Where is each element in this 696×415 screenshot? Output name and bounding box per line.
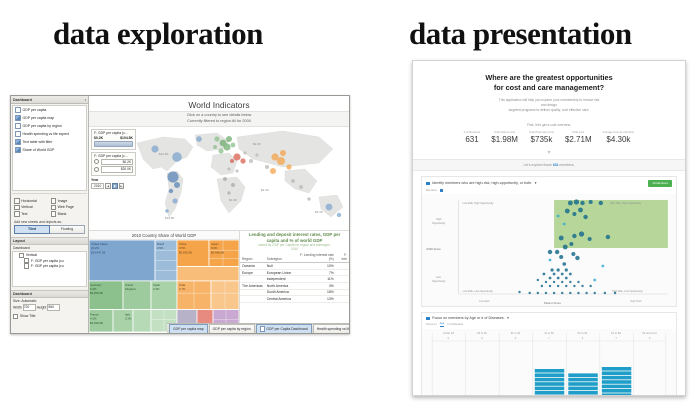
- filter-min-value: $0.2K: [94, 136, 103, 140]
- left-dock: Dashboard › GDP per capita GDP per capit…: [11, 96, 89, 333]
- cell-lending: 7%: [293, 269, 336, 276]
- cell-region: [240, 276, 265, 283]
- column-label: 18 to 30: [477, 331, 487, 335]
- cell-region: Europe: [240, 269, 265, 276]
- tab-health-spending[interactable]: Health spending vs life expecta...: [313, 324, 349, 333]
- cell-region: [240, 289, 265, 296]
- kpi-label: Average Cost per Member: [603, 131, 635, 134]
- dashboard-lower-row: 2010 Country Share of World GDP: [89, 231, 349, 332]
- dashboard-icon: [15, 147, 21, 153]
- svg-text:$3,258.0B: $3,258.0B: [90, 291, 103, 295]
- slide-heading-right: data presentation: [409, 16, 632, 52]
- kpi-total-cost: Total Cost $2.71M: [565, 131, 592, 144]
- bars-control-prefix: Focus on: [426, 323, 437, 326]
- age-band-bar-chart[interactable]: Under 180 18 to 300 31 to 400 41 to 507 …: [422, 329, 676, 396]
- cell-lending: 10%: [293, 263, 336, 270]
- filter-title: F: GDP per capita (c...: [94, 131, 133, 135]
- interest-table-panel[interactable]: Lending and deposit interest rates, GDP …: [240, 231, 349, 332]
- treemap-panel[interactable]: 2010 Country Share of World GDP: [89, 231, 240, 332]
- x-axis-high-label: High Risk: [630, 299, 642, 303]
- dashboard-subtitle-line2: Currently filtered to region All for 200…: [89, 119, 349, 125]
- svg-text:ASRI Score: ASRI Score: [426, 247, 441, 251]
- kpi-value: $2.71M: [565, 135, 592, 144]
- svg-text:Kingdom: Kingdom: [125, 287, 137, 291]
- chevron-down-icon[interactable]: ▾: [535, 181, 537, 185]
- interest-table[interactable]: Region Subregion F: Lending interest rat…: [240, 252, 349, 303]
- scatter-card-heading: Identify members who are high-risk, high…: [432, 181, 532, 185]
- explore-prefix: Let's explore those: [524, 163, 553, 167]
- object-vertical[interactable]: Vertical: [14, 205, 49, 211]
- svg-text:2.7%: 2.7%: [179, 287, 186, 291]
- kpi-row: # of Members 631 Total Claims Cost $1.98…: [413, 127, 685, 144]
- svg-text:$3.3K: $3.3K: [315, 210, 323, 214]
- world-map[interactable]: $12.6K $19.8K $1.0K $1.3K $2.3K $3.3K: [133, 127, 349, 230]
- svg-text:$2,549.0B: $2,549.0B: [90, 321, 103, 325]
- size-label: Size:: [13, 299, 21, 303]
- cell-interest: [336, 296, 349, 303]
- object-web-page[interactable]: Web Page: [51, 205, 86, 211]
- dashboard-panel-header: Dashboard ›: [11, 96, 88, 104]
- treemap-title: 2010 Country Share of World GDP: [89, 231, 239, 240]
- text-icon: [14, 211, 20, 217]
- table-row[interactable]: Central America13%: [240, 296, 349, 303]
- column-label: 41 to 50: [544, 331, 554, 335]
- layout-root-label: Dashboard: [13, 246, 86, 250]
- table-row[interactable]: The AmericasNorth America3%: [240, 283, 349, 290]
- kpi-label: Total Pharmacy Cost: [529, 131, 554, 134]
- cell-interest: [336, 269, 349, 276]
- column-header-lending-rate[interactable]: F: Lending interest rate (%): [293, 252, 336, 263]
- year-filter[interactable]: Year 2010 ◂ ▮ ▸: [91, 178, 136, 189]
- presentation-description: This application will help you explore y…: [413, 93, 685, 113]
- quadrant-label-low-risk-high-opp: Low Risk, High Opportunity: [463, 202, 494, 205]
- kpi-value: $4.30k: [603, 135, 635, 144]
- bars-card-heading: Focus on members by Age or # of Diseases…: [432, 316, 505, 320]
- cell-interest: [336, 289, 349, 296]
- year-label: Year: [91, 178, 136, 182]
- presentation-title: Where are the greatest opportunities for…: [413, 61, 685, 93]
- filter-card-spinner[interactable]: F: GDP per capita (c... $0.2K $20.0K: [91, 152, 136, 176]
- width-label: Width: [13, 305, 22, 309]
- table-header-row: Region Subregion F: Lending interest rat…: [240, 252, 349, 263]
- sheet-label: Text table with filter: [23, 140, 53, 144]
- svg-text:$14,447.1B: $14,447.1B: [91, 250, 105, 254]
- object-blank[interactable]: Blank: [51, 211, 86, 217]
- add-as-tiled-button[interactable]: Tiled: [14, 225, 50, 234]
- dashboard-canvas: World Indicators Click on a country to s…: [89, 96, 349, 333]
- svg-text:$1.0K: $1.0K: [253, 142, 261, 146]
- add-as-toggle[interactable]: Tiled Floating: [14, 225, 85, 234]
- explore-suffix: members.: [558, 163, 574, 167]
- table-row[interactable]: OceaniaNull10%: [240, 263, 349, 270]
- kpi-value: $1.98M: [491, 135, 518, 144]
- web-page-icon: [51, 205, 57, 211]
- svg-text:2.3%: 2.3%: [153, 287, 160, 291]
- cell-lending: 11%: [293, 276, 336, 283]
- cell-lending: 13%: [293, 296, 336, 303]
- cell-lending: 3%: [293, 283, 336, 290]
- height-label: Height: [37, 305, 47, 309]
- tab-gdp-per-capita-by-region[interactable]: GDP per capita by region: [209, 324, 255, 333]
- kpi-label: # of Members: [464, 131, 480, 134]
- cell-subregion: European Union: [265, 269, 294, 276]
- svg-text:$1.3K: $1.3K: [229, 198, 237, 202]
- layout-panel-header: Layout: [11, 237, 88, 245]
- size-row[interactable]: Size: Automatic: [13, 299, 86, 303]
- checkbox-icon[interactable]: [13, 314, 18, 319]
- year-value[interactable]: 2010: [91, 183, 104, 189]
- tableau-authoring-window: Dashboard › GDP per capita GDP per capit…: [10, 95, 350, 334]
- vertical-layout-icon: [14, 205, 20, 211]
- presentation-title-line1: Where are the greatest opportunities: [431, 73, 667, 83]
- worksheet-icon: [15, 131, 21, 137]
- slide-canvas: data exploration data presentation Dashb…: [0, 0, 696, 415]
- bars-card: Focus on members by Age or # of Diseases…: [421, 312, 677, 396]
- column-label: 61 to 80: [611, 331, 621, 335]
- size-value[interactable]: Automatic: [21, 299, 36, 303]
- quadrant-label-low-risk-low-opp: Low Risk, Low Opportunity: [463, 290, 494, 293]
- show-title-row[interactable]: Show Title: [11, 312, 88, 321]
- object-text[interactable]: Text: [14, 211, 49, 217]
- show-title-label: Show Title: [20, 314, 36, 318]
- column-label: Under 18: [443, 331, 454, 335]
- list-item[interactable]: GDP per capita by region: [13, 122, 86, 130]
- kpi-label: Total Cost: [565, 131, 592, 134]
- dashboard-panel-title: Dashboard: [13, 98, 32, 102]
- checkbox-icon[interactable]: [24, 263, 29, 268]
- tab-gdp-per-capita-map[interactable]: GDP per capita map: [169, 324, 208, 333]
- dashboard-title: World Indicators: [89, 96, 349, 111]
- presentation-dashboard: Where are the greatest opportunities for…: [412, 60, 686, 396]
- svg-text:3.5%: 3.5%: [157, 246, 164, 250]
- blank-icon: [51, 211, 57, 217]
- height-input[interactable]: 560: [47, 304, 60, 311]
- quadrant-label-high-risk-high-opp: High Risk, High Opportunity: [610, 202, 642, 205]
- column-header-subregion[interactable]: Subregion: [265, 252, 294, 263]
- cell-interest: [336, 263, 349, 270]
- table-row[interactable]: Independent11%: [240, 276, 349, 283]
- kpi-average-cost-per-member: Average Cost per Member $4.30k: [603, 131, 635, 144]
- add-as-floating-button[interactable]: Floating: [50, 225, 85, 234]
- kpi-value: $735k: [529, 135, 554, 144]
- list-item[interactable]: GDP per capita: [13, 106, 86, 114]
- chevron-down-icon[interactable]: ▾: [507, 316, 509, 320]
- cell-interest: [336, 283, 349, 290]
- table-row[interactable]: EuropeEuropean Union7%: [240, 269, 349, 276]
- layout-panel-title: Layout: [13, 239, 25, 243]
- tree-item-filter-2[interactable]: F: GDP per capita (cu: [15, 263, 84, 268]
- image-icon: [51, 198, 57, 204]
- dashboard-icon: [15, 115, 21, 121]
- sheet-list[interactable]: GDP per capita GDP per capita map GDP pe…: [12, 105, 87, 191]
- add-as-label: Add new sheets and objects as:: [12, 217, 87, 225]
- cell-region: [240, 296, 265, 303]
- object-horizontal[interactable]: Horizontal: [14, 198, 49, 204]
- table-row[interactable]: South America16%: [240, 289, 349, 296]
- cell-lending: 16%: [293, 289, 336, 296]
- column-label: 51 to 60: [578, 331, 588, 335]
- bars-tab-diseases[interactable]: # of Diseases: [447, 323, 463, 326]
- section-marker-icon: [426, 317, 430, 321]
- filter-card-range[interactable]: F: GDP per capita (c... $0.2K $104.5K: [91, 129, 136, 150]
- horizontal-layout-icon: [14, 198, 20, 204]
- layout-tree[interactable]: Vertical F: GDP per capita (cu F: GDP pe…: [12, 251, 87, 287]
- radio-icon[interactable]: [94, 159, 99, 164]
- sheet-label: GDP per capita map: [23, 116, 55, 120]
- quadrant-label-high-risk-low-opp: High Risk, Low Opportunity: [612, 290, 643, 293]
- svg-text:$2.3K: $2.3K: [261, 188, 269, 192]
- column-header-interest[interactable]: F: Inte: [336, 252, 349, 263]
- dashboard-icon: [15, 139, 21, 145]
- kpi-total-pharmacy-cost: Total Pharmacy Cost $735k: [529, 131, 554, 144]
- cell-subregion: Central America: [265, 296, 294, 303]
- column-label: 31 to 40: [511, 331, 521, 335]
- kpi-members: # of Members 631: [464, 131, 480, 144]
- cell-subregion: South America: [265, 289, 294, 296]
- dimensions-row[interactable]: Width 720 Height 560: [13, 304, 86, 311]
- size-panel-title: Dashboard: [13, 292, 32, 296]
- svg-text:$5,488.4B: $5,488.4B: [211, 250, 224, 254]
- filter-max-value: $104.5K: [120, 136, 133, 140]
- map-view[interactable]: $12.6K $19.8K $1.0K $1.3K $2.3K $3.3K F:…: [89, 127, 349, 231]
- filter-to-input[interactable]: $20.0K: [101, 166, 133, 173]
- range-slider[interactable]: [94, 141, 133, 147]
- all-members-button[interactable]: All Members: [648, 180, 672, 187]
- sheet-label: Share of World GDP: [23, 148, 55, 152]
- svg-text:Opportunity: Opportunity: [432, 222, 446, 225]
- svg-text:High: High: [436, 218, 442, 221]
- cost-overview-lead: First, let's get a cost overview.: [413, 113, 685, 127]
- radio-icon[interactable]: [94, 167, 99, 172]
- worksheet-tab-bar[interactable]: GDP per capita map GDP per capita by reg…: [167, 323, 349, 333]
- filter-swatch-icon[interactable]: [440, 189, 444, 193]
- dashboard-subtitle: Click on a country to see details below …: [89, 111, 349, 127]
- svg-text:Opportunity: Opportunity: [432, 280, 446, 283]
- dashboard-tab-icon: [260, 326, 265, 331]
- x-axis-low-label: Low Risk: [479, 299, 490, 303]
- list-item[interactable]: GDP per capita map: [13, 114, 86, 122]
- interest-table-title: Lending and deposit interest rates, GDP …: [240, 231, 349, 251]
- x-axis-title: Patient Score: [544, 301, 561, 305]
- svg-text:$12.6K: $12.6K: [159, 152, 169, 156]
- object-image[interactable]: Image: [51, 198, 86, 204]
- svg-text:Low: Low: [436, 276, 441, 279]
- year-current-button[interactable]: ▮: [112, 183, 118, 189]
- bars-tab-age[interactable]: Age: [440, 322, 445, 327]
- worksheet-icon: [15, 123, 21, 129]
- interest-table-subtitle-line2: 2010: [242, 247, 347, 251]
- column-header-region[interactable]: Region: [240, 252, 265, 263]
- objects-section: Horizontal Image Vertical Web Page Text …: [12, 193, 87, 234]
- list-item[interactable]: Share of World GDP: [13, 146, 86, 154]
- cell-region: The Americas: [240, 283, 265, 290]
- svg-text:$19.8K: $19.8K: [165, 216, 175, 220]
- filter-stack[interactable]: F: GDP per capita (c... $0.2K $104.5K F:…: [91, 129, 136, 189]
- size-panel-header: Dashboard: [11, 290, 88, 298]
- chevron-collapse-icon[interactable]: ›: [85, 98, 86, 102]
- section-marker-icon: [426, 182, 430, 186]
- sheet-label: Health spending vs life expect: [23, 132, 70, 136]
- slide-heading-left: data exploration: [53, 16, 263, 52]
- cell-subregion: North America: [265, 283, 294, 290]
- cell-subregion: Independent: [265, 276, 294, 283]
- year-prev-button[interactable]: ◂: [105, 183, 111, 189]
- worksheet-icon: [15, 107, 21, 113]
- cell-region: Oceania: [240, 263, 265, 270]
- list-item[interactable]: Health spending vs life expect: [13, 130, 86, 138]
- svg-text:$5,930.5B: $5,930.5B: [179, 250, 192, 254]
- presentation-title-line2: for cost and care management?: [431, 83, 667, 93]
- column-label: 81 and Over: [642, 331, 657, 335]
- svg-text:3.3%: 3.3%: [125, 317, 132, 321]
- explore-members-band: Let's explore those 631 members.: [413, 159, 685, 171]
- kpi-value: 631: [464, 135, 480, 144]
- scatter-control-label: Members: [426, 189, 437, 192]
- chevron-down-icon[interactable]: ▾: [413, 144, 685, 159]
- scatter-plot[interactable]: Low Risk, High Opportunity High Risk, Hi…: [422, 194, 676, 306]
- scatter-card: Identify members who are high-risk, high…: [421, 176, 677, 307]
- year-next-button[interactable]: ▸: [119, 183, 125, 189]
- treemap-chart[interactable]: United States 23.2% $14,447.1B Brazil 3.…: [89, 240, 239, 332]
- kpi-total-claims-cost: Total Claims Cost $1.98M: [491, 131, 518, 144]
- list-item[interactable]: Text table with filter: [13, 138, 86, 146]
- filter-from-input[interactable]: $0.2K: [101, 159, 133, 166]
- width-input[interactable]: 720: [23, 304, 36, 311]
- sheet-label: GDP per capita: [23, 108, 47, 112]
- cell-subregion: Null: [265, 263, 294, 270]
- tab-gdp-per-capita-dashboard[interactable]: GDP per Capita Dashboard: [256, 324, 312, 333]
- cell-interest: [336, 276, 349, 283]
- interest-table-title-line1: Lending and deposit interest rates, GDP …: [242, 232, 347, 238]
- filter-title: F: GDP per capita (c...: [94, 154, 133, 158]
- kpi-label: Total Claims Cost: [491, 131, 518, 134]
- sheet-label: GDP per capita by region: [23, 124, 62, 128]
